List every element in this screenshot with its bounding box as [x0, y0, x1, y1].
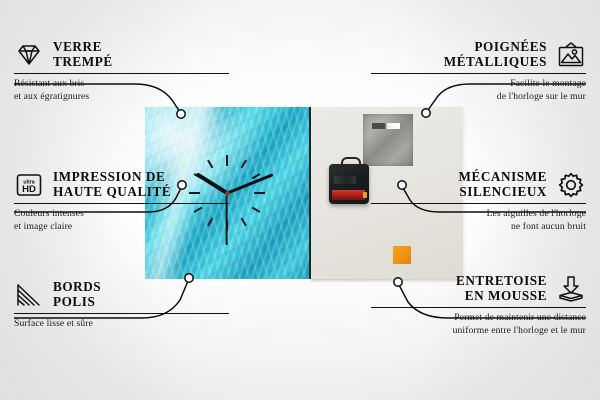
- gear-icon: [556, 170, 586, 200]
- callout-title: IMPRESSION DE HAUTE QUALITÉ: [53, 170, 229, 200]
- callout-title: ENTRETOISE EN MOUSSE: [371, 274, 547, 304]
- callout-description: Facilite le montage de l'horloge sur le …: [371, 78, 586, 103]
- infographic-canvas: VERRE TREMPÉ Résistant aux bris et aux é…: [0, 0, 600, 400]
- mechanism-loop: [341, 157, 361, 169]
- callout-title: MÉCANISME SILENCIEUX: [371, 170, 547, 200]
- callout-rule: [371, 73, 586, 74]
- callout-title: POIGNÉES MÉTALLIQUES: [371, 40, 547, 70]
- picture-frame-hanger-icon: [556, 40, 586, 70]
- callout-description: Permet de maintenir une distance uniform…: [371, 312, 586, 337]
- diamond-icon: [14, 40, 44, 70]
- callout-title: BORDS POLIS: [53, 280, 229, 310]
- callout-description: Les aiguilles de l'horloge ne font aucun…: [371, 208, 586, 233]
- feature-callout-poignees: POIGNÉES MÉTALLIQUES Facilite le montage…: [371, 40, 586, 104]
- callout-header: ENTRETOISE EN MOUSSE: [371, 274, 586, 304]
- callout-rule: [371, 307, 586, 308]
- callout-header: POIGNÉES MÉTALLIQUES: [371, 40, 586, 70]
- callout-description: Surface lisse et sûre: [14, 318, 229, 331]
- polished-edge-icon: [14, 280, 44, 310]
- feature-callout-verre-trempe: VERRE TREMPÉ Résistant aux bris et aux é…: [14, 40, 229, 104]
- callout-title: VERRE TREMPÉ: [53, 40, 229, 70]
- callout-rule: [14, 313, 229, 314]
- callout-header: ultra HD IMPRESSION DE HAUTE QUALITÉ: [14, 170, 229, 200]
- ultra-hd-icon: ultra HD: [14, 170, 44, 200]
- hanger-slot: [372, 123, 400, 129]
- callout-rule: [14, 203, 229, 204]
- callout-header: MÉCANISME SILENCIEUX: [371, 170, 586, 200]
- callout-description: Couleurs intenses et image claire: [14, 208, 229, 233]
- callout-header: BORDS POLIS: [14, 280, 229, 310]
- ultra-hd-big-label: HD: [22, 184, 36, 195]
- feature-callout-bords-polis: BORDS POLIS Surface lisse et sûre: [14, 280, 229, 331]
- feature-callout-entretoise: ENTRETOISE EN MOUSSE Permet de maintenir…: [371, 274, 586, 338]
- callout-description: Résistant aux bris et aux égratignures: [14, 78, 229, 103]
- mechanism-vent: [334, 176, 356, 184]
- feature-callout-impression: ultra HD IMPRESSION DE HAUTE QUALITÉ Cou…: [14, 170, 229, 234]
- feature-callout-mecanisme: MÉCANISME SILENCIEUX Les aiguilles de l'…: [371, 170, 586, 234]
- battery-part: [332, 190, 365, 200]
- callout-rule: [14, 73, 229, 74]
- arrow-down-foam-icon: [556, 274, 586, 304]
- metal-hanger-part: [363, 114, 413, 166]
- foam-spacer-part: [393, 246, 411, 264]
- callout-rule: [371, 203, 586, 204]
- clock-mechanism-part: [329, 164, 369, 204]
- callout-header: VERRE TREMPÉ: [14, 40, 229, 70]
